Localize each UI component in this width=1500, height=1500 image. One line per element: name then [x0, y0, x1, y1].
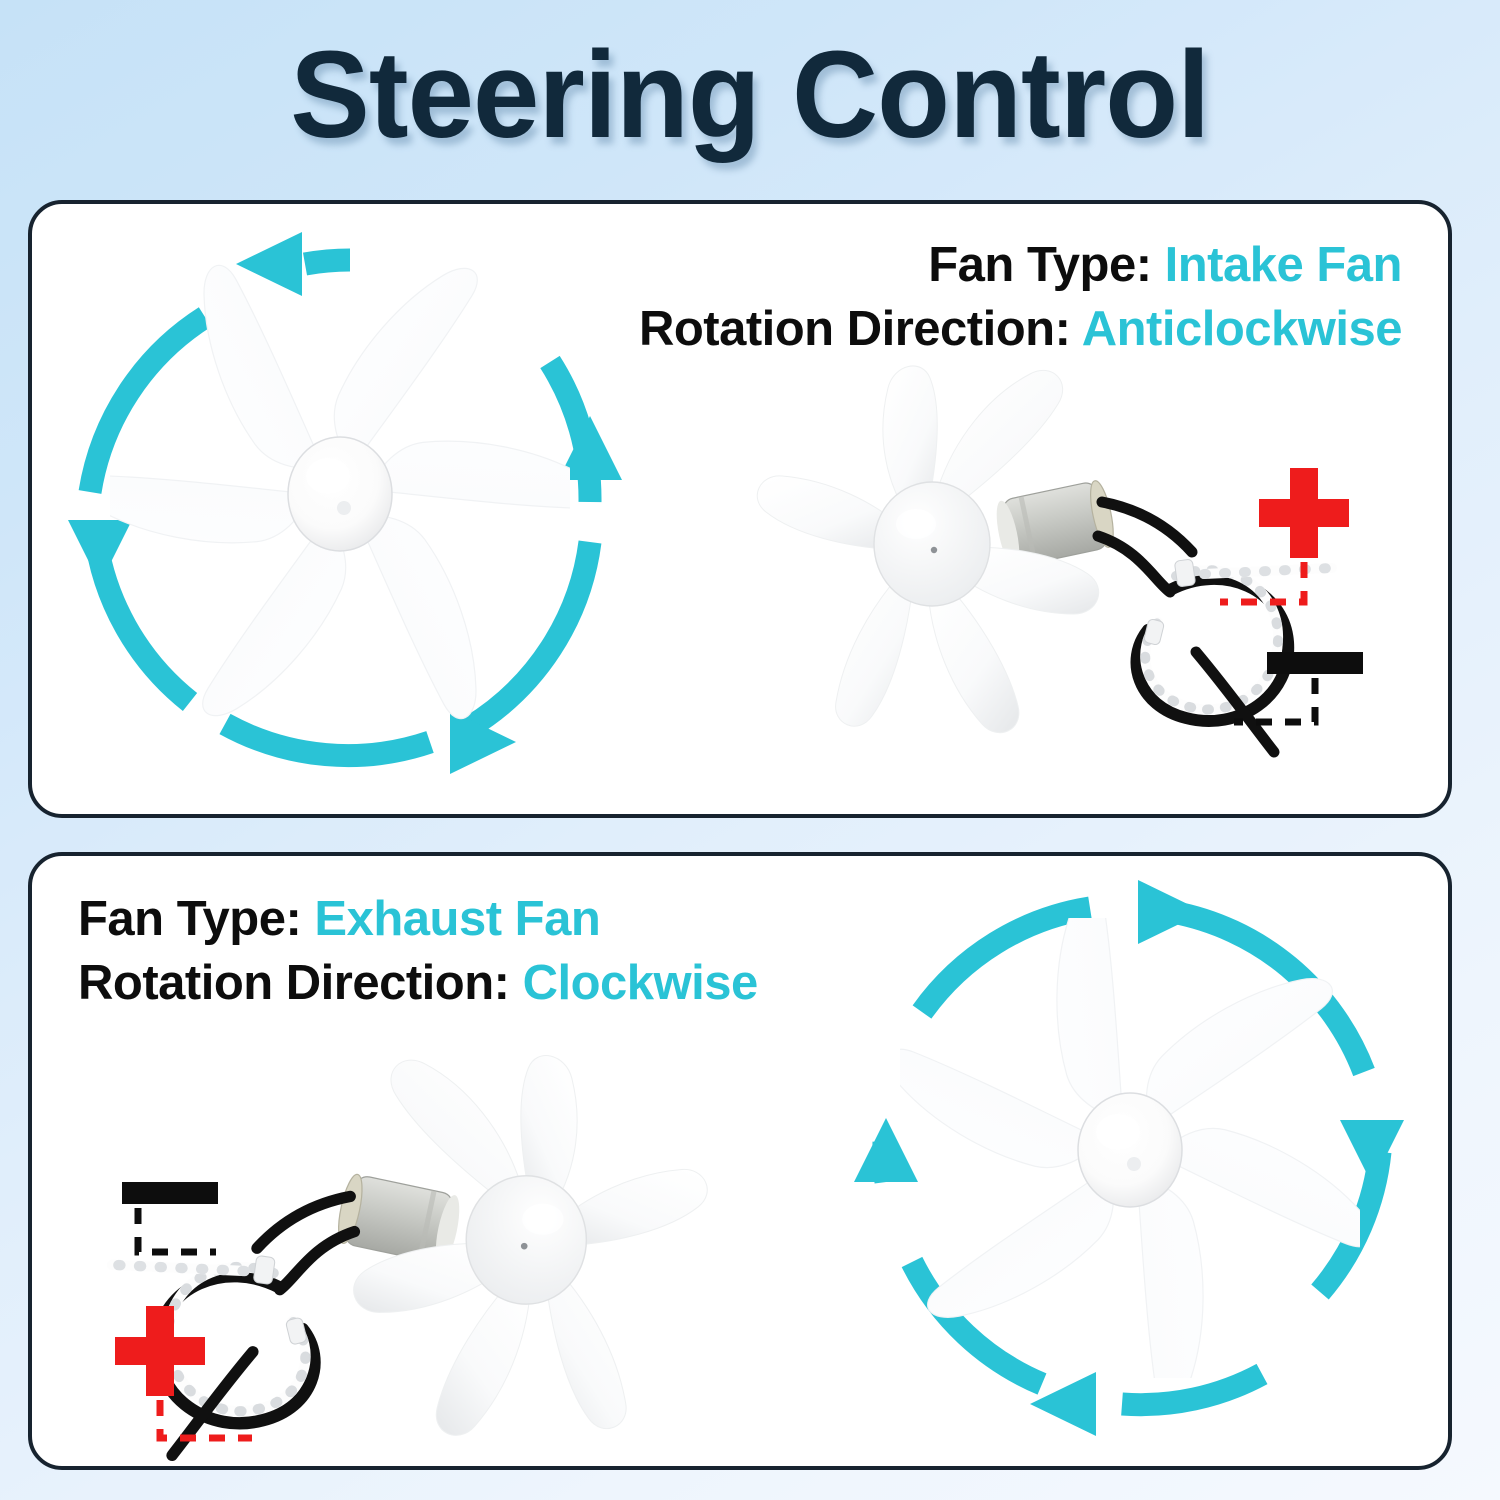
minus-connector-line — [138, 1208, 216, 1252]
plus-symbol — [115, 1306, 205, 1396]
panel-exhaust-fan: Fan Type: Exhaust Fan Rotation Direction… — [28, 852, 1452, 1470]
fan-type-value: Exhaust Fan — [314, 892, 600, 946]
exhaust-fan-type-line: Fan Type: Exhaust Fan — [78, 888, 758, 952]
rotation-direction-value: Clockwise — [523, 956, 758, 1010]
panel-intake-fan: Fan Type: Intake Fan Rotation Direction:… — [28, 200, 1452, 818]
rotation-direction-label: Rotation Direction: — [639, 302, 1070, 356]
fan-type-value: Intake Fan — [1165, 238, 1402, 292]
rotation-direction-label: Rotation Direction: — [78, 956, 509, 1010]
exhaust-fan-info: Fan Type: Exhaust Fan Rotation Direction… — [78, 888, 758, 1015]
polarity-markers-exhaust — [94, 1156, 314, 1446]
intake-fan-info: Fan Type: Intake Fan Rotation Direction:… — [639, 234, 1402, 361]
plus-connector-line — [1220, 562, 1304, 602]
page-title: Steering Control — [290, 34, 1209, 157]
minus-connector-line — [1234, 678, 1315, 722]
minus-symbol — [122, 1182, 218, 1204]
fan-front-view — [110, 262, 570, 722]
minus-symbol — [1267, 652, 1363, 674]
intake-rotation-line: Rotation Direction: Anticlockwise — [639, 298, 1402, 362]
fan-type-label: Fan Type: — [78, 892, 301, 946]
polarity-markers-intake — [1212, 454, 1432, 744]
exhaust-rotation-line: Rotation Direction: Clockwise — [78, 952, 758, 1016]
page-title-wrapper: Steering Control — [0, 34, 1500, 157]
plus-connector-line — [160, 1400, 252, 1438]
fan-type-label: Fan Type: — [928, 238, 1151, 292]
rotation-direction-value: Anticlockwise — [1082, 302, 1402, 356]
fan-front-view — [900, 918, 1360, 1378]
intake-fan-type-line: Fan Type: Intake Fan — [639, 234, 1402, 298]
plus-symbol — [1259, 468, 1349, 558]
